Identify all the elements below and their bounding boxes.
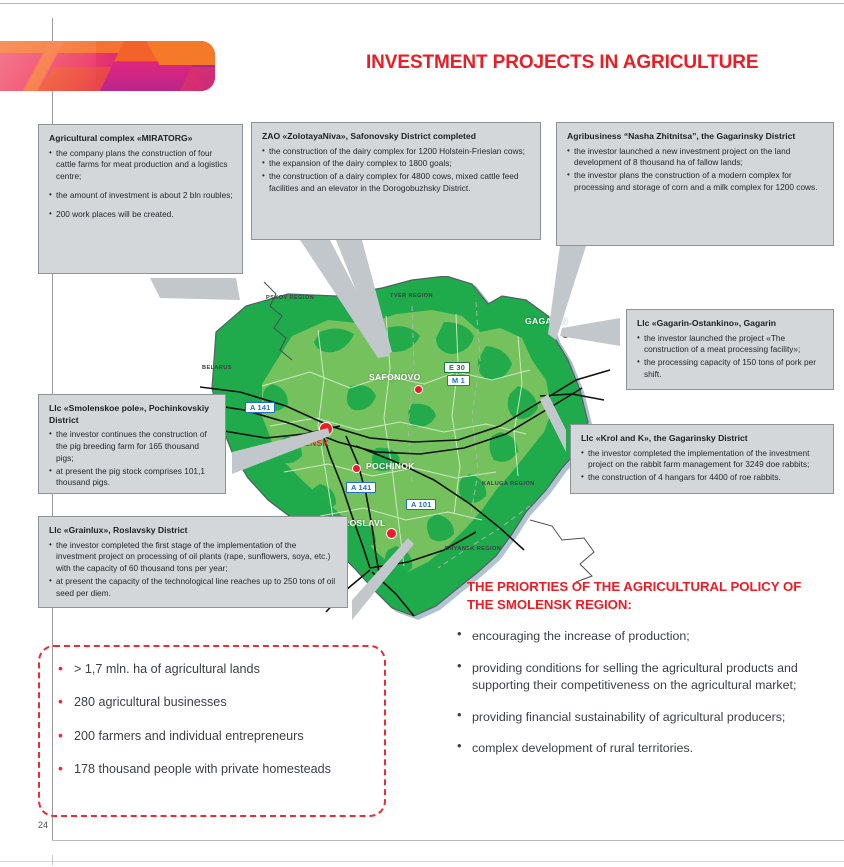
callout-bullet: the investor completed the first stage o… [49,540,338,575]
callout-grainlux[interactable]: Llc «Grainlux», Roslavsky District the i… [38,516,348,608]
pointer-gagarin-ostankino [560,318,620,346]
callout-bullets: the construction of the dairy complex fo… [262,146,531,195]
callout-smolenskoe-pole[interactable]: Llc «Smolenskoe pole», Pochinkovskiy Dis… [38,394,226,494]
callout-miratorg[interactable]: Agricultural complex «MIRATORG» the comp… [38,124,243,274]
callout-bullets: the investor continues the construction … [49,429,216,489]
callout-title: Agribusiness “Nasha Zhitnitsa”, the Gaga… [567,131,824,143]
callout-bullets: the investor completed the implementatio… [581,448,824,484]
callout-zolotaya-niva[interactable]: ZAO «ZolotayaNiva», Safonovsky District … [251,122,541,240]
list-item: 200 farmers and individual entrepreneurs [56,728,368,744]
callout-bullet: the processing capacity of 150 tons of p… [637,357,824,381]
callout-bullet: the investor launched the project «The c… [637,333,824,357]
callout-bullet: the expansion of the dairy complex to 18… [262,158,531,170]
callout-title: Agricultural complex «MIRATORG» [49,133,233,145]
callout-bullet: the investor launched a new investment p… [567,146,824,170]
callout-bullets: the investor launched the project «The c… [637,333,824,381]
banner-title: Agriculture [36,8,153,36]
priorities-items: encouraging the increase of production; … [455,628,825,757]
list-item: providing financial sustainability of ag… [455,709,825,726]
pointer-krol [540,394,566,452]
callout-bullet: the construction of a dairy complex for … [262,171,531,195]
pointer-grainlux [352,538,414,620]
callout-gagarin-ostankino[interactable]: Llc «Gagarin-Ostankino», Gagarin the inv… [626,309,834,390]
callout-bullet: the investor plans the construction of a… [567,170,824,194]
pointer-smolenskoe [232,428,330,474]
callout-krol-i-k[interactable]: Llc «Krol and K», the Gagarinsky Distric… [570,424,834,494]
pointer-miratorg [150,278,240,300]
callout-bullet: at present the pig stock comprises 101,1… [49,466,216,490]
priorities-title: THE PRIORTIES OF THE AGRICULTURAL POLICY… [467,578,827,613]
key-facts-box: > 1,7 mln. ha of agricultural lands 280 … [38,645,386,817]
list-item: encouraging the increase of production; [455,628,825,645]
callout-bullet: the company plans the construction of fo… [49,148,233,183]
list-item: providing conditions for selling the agr… [455,660,825,694]
callout-bullet: the investor continues the construction … [49,429,216,464]
callout-bullet: 200 work places will be created. [49,209,233,221]
page-number: 24 [38,820,48,830]
callout-bullet: the investor completed the implementatio… [581,448,824,472]
key-facts-list: > 1,7 mln. ha of agricultural lands 280 … [56,661,368,777]
callout-bullet: the amount of investment is about 2 bln … [49,190,233,202]
callout-title: ZAO «ZolotayaNiva», Safonovsky District … [262,131,531,143]
callout-bullets: the investor completed the first stage o… [49,540,338,600]
priorities-list: encouraging the increase of production; … [455,628,825,772]
callout-title: Llc «Gagarin-Ostankino», Gagarin [637,318,824,330]
list-item: 280 agricultural businesses [56,694,368,710]
callout-bullet: at present the capacity of the technolog… [49,576,338,600]
list-item: 178 thousand people with private homeste… [56,761,368,777]
callout-title: Llc «Smolenskoe pole», Pochinkovskiy Dis… [49,403,216,426]
list-item: > 1,7 mln. ha of agricultural lands [56,661,368,677]
callout-bullets: the company plans the construction of fo… [49,148,233,221]
callout-bullets: the investor launched a new investment p… [567,146,824,194]
callout-title: Llc «Krol and K», the Gagarinsky Distric… [581,433,824,445]
page-root: Agriculture INVESTMENT PROJECTS IN AGRIC… [0,0,844,867]
list-item: complex development of rural territories… [455,740,825,757]
callout-bullet: the construction of the dairy complex fo… [262,146,531,158]
callout-title: Llc «Grainlux», Roslavsky District [49,525,338,537]
callout-nasha-zhitnitsa[interactable]: Agribusiness “Nasha Zhitnitsa”, the Gaga… [556,122,834,246]
callout-bullet: the construction of 4 hangars for 4400 o… [581,472,824,484]
